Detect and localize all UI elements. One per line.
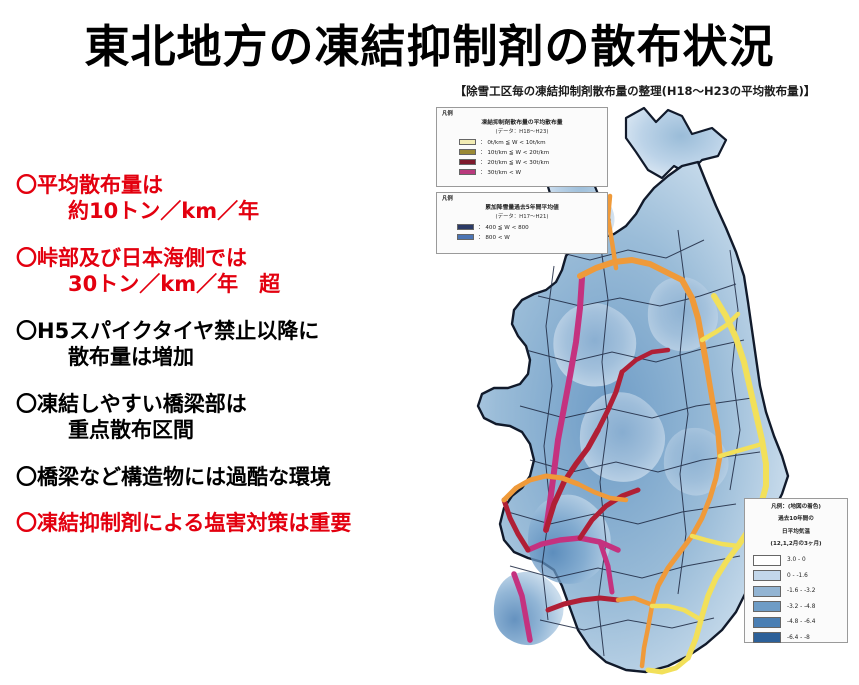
region-shimokita: [626, 108, 726, 178]
legend-temp-line3: 日平均気温: [745, 524, 847, 536]
bullet-1-line-2: 約10トン／km／年: [16, 198, 436, 224]
legend-temp-title: 凡例：(地図の着色): [745, 499, 847, 511]
legend-label-temp-6: -6.4 - -8: [787, 635, 810, 641]
legend-label-temp-3: -1.6 - -3.2: [787, 588, 815, 594]
legend-row: -3.2 - -4.8: [753, 600, 847, 613]
legend-swatch-temp-2: [753, 570, 781, 581]
bullet-4-line-1: 〇凍結しやすい橋梁部は: [16, 391, 436, 417]
legend-label-20-30: ： 20t/km ≦ W < 30t/km: [480, 158, 549, 166]
legend-row: -6.4 - -8: [753, 631, 847, 644]
legend-spread-amount: 凡例 凍結抑制剤散布量の平均散布量 (データ：H18～H23) ： 0t/km …: [436, 107, 608, 187]
page-title: 東北地方の凍結抑制剤の散布状況: [0, 10, 859, 75]
legend-label-snow-800-plus: ： 800 < W: [478, 233, 510, 241]
legend-swatch-snow-400-800: [457, 224, 474, 230]
legend-swatch-snow-800-plus: [457, 234, 474, 240]
legend-label-10-20: ： 10t/km ≦ W < 20t/km: [480, 148, 549, 156]
page-subtitle: 【除雪工区毎の凍結抑制剤散布量の整理(H18～H23の平均散布量)】: [420, 83, 850, 99]
legend-snow-subtitle: (データ：H17～H21): [437, 213, 607, 221]
bullet-6-line-1: 〇凍結抑制剤による塩害対策は重要: [16, 510, 436, 536]
bullet-item-1: 〇平均散布量は 約10トン／km／年: [16, 172, 436, 225]
legend-swatch-temp-3: [753, 586, 781, 597]
slide-root: 東北地方の凍結抑制剤の散布状況 【除雪工区毎の凍結抑制剤散布量の整理(H18～H…: [0, 0, 859, 685]
legend-row: 0 - -1.6: [753, 569, 847, 582]
legend-label-temp-2: 0 - -1.6: [787, 573, 808, 579]
legend-snow-title: 累加降雪量過去5年間平均値: [437, 204, 607, 213]
legend-swatch-0-10: [459, 139, 476, 145]
legend-label-temp-1: 3.0 - 0: [787, 557, 806, 563]
legend-row: -4.8 - -6.4: [753, 616, 847, 629]
legend-swatch-temp-5: [753, 617, 781, 628]
legend-label-snow-400-800: ： 400 ≦ W < 800: [478, 223, 529, 231]
legend-spread-title: 凍結抑制剤散布量の平均散布量: [437, 119, 607, 128]
legend-label-temp-5: -4.8 - -6.4: [787, 619, 815, 625]
legend-label-30-plus: ： 30t/km < W: [480, 168, 521, 176]
legend-label-temp-4: -3.2 - -4.8: [787, 604, 815, 610]
bullet-2-line-1: 〇峠部及び日本海側では: [16, 245, 436, 271]
legend-snowfall: 凡例 累加降雪量過去5年間平均値 (データ：H17～H21) ： 400 ≦ W…: [436, 192, 608, 254]
legend-row: -1.6 - -3.2: [753, 585, 847, 598]
bullet-item-3: 〇H5スパイクタイヤ禁止以降に 散布量は増加: [16, 318, 436, 371]
legend-row: ： 30t/km < W: [459, 168, 607, 177]
legend-swatch-temp-4: [753, 601, 781, 612]
bullet-3-line-1: 〇H5スパイクタイヤ禁止以降に: [16, 318, 436, 344]
legend-row: ： 800 < W: [457, 233, 607, 242]
legend-swatch-temp-1: [753, 555, 781, 566]
legend-swatch-20-30: [459, 159, 476, 165]
bullet-5-line-1: 〇橋梁など構造物には過酷な環境: [16, 464, 436, 490]
legend-row: ： 400 ≦ W < 800: [457, 223, 607, 232]
legend-label-0-10: ： 0t/km ≦ W < 10t/km: [480, 138, 546, 146]
legend-row: 3.0 - 0: [753, 554, 847, 567]
legend-swatch-temp-6: [753, 632, 781, 643]
bullet-1-line-1: 〇平均散布量は: [16, 172, 436, 198]
legend-row: ： 0t/km ≦ W < 10t/km: [459, 138, 607, 147]
legend-temp-line2: 過去10年間の: [745, 511, 847, 523]
bullet-2-line-2: 30トン／km／年 超: [16, 271, 436, 297]
bullet-item-4: 〇凍結しやすい橋梁部は 重点散布区間: [16, 391, 436, 444]
legend-temp-rows: 3.0 - 0 0 - -1.6 -1.6 - -3.2 -3.2 - -4.8…: [745, 554, 847, 645]
bullet-item-2: 〇峠部及び日本海側では 30トン／km／年 超: [16, 245, 436, 298]
legend-spread-subtitle: (データ：H18～H23): [437, 128, 607, 136]
legend-swatch-30-plus: [459, 169, 476, 175]
legend-snow-rows: ： 400 ≦ W < 800 ： 800 < W: [437, 223, 607, 242]
bullet-item-6: 〇凍結抑制剤による塩害対策は重要: [16, 510, 436, 536]
bullet-list: 〇平均散布量は 約10トン／km／年 〇峠部及び日本海側では 30トン／km／年…: [16, 172, 436, 557]
legend-snow-heading: 凡例: [437, 193, 607, 204]
bullet-item-5: 〇橋梁など構造物には過酷な環境: [16, 464, 436, 490]
legend-swatch-10-20: [459, 149, 476, 155]
legend-row: ： 10t/km ≦ W < 20t/km: [459, 148, 607, 157]
bullet-3-line-2: 散布量は増加: [16, 344, 436, 370]
legend-temperature: 凡例：(地図の着色) 過去10年間の 日平均気温 (12,1,2月の3ヶ月) 3…: [744, 498, 848, 643]
legend-spread-heading: 凡例: [437, 108, 607, 119]
legend-temp-line4: (12,1,2月の3ヶ月): [745, 536, 847, 548]
legend-row: ： 20t/km ≦ W < 30t/km: [459, 158, 607, 167]
legend-spread-rows: ： 0t/km ≦ W < 10t/km ： 10t/km ≦ W < 20t/…: [437, 138, 607, 177]
bullet-4-line-2: 重点散布区間: [16, 417, 436, 443]
